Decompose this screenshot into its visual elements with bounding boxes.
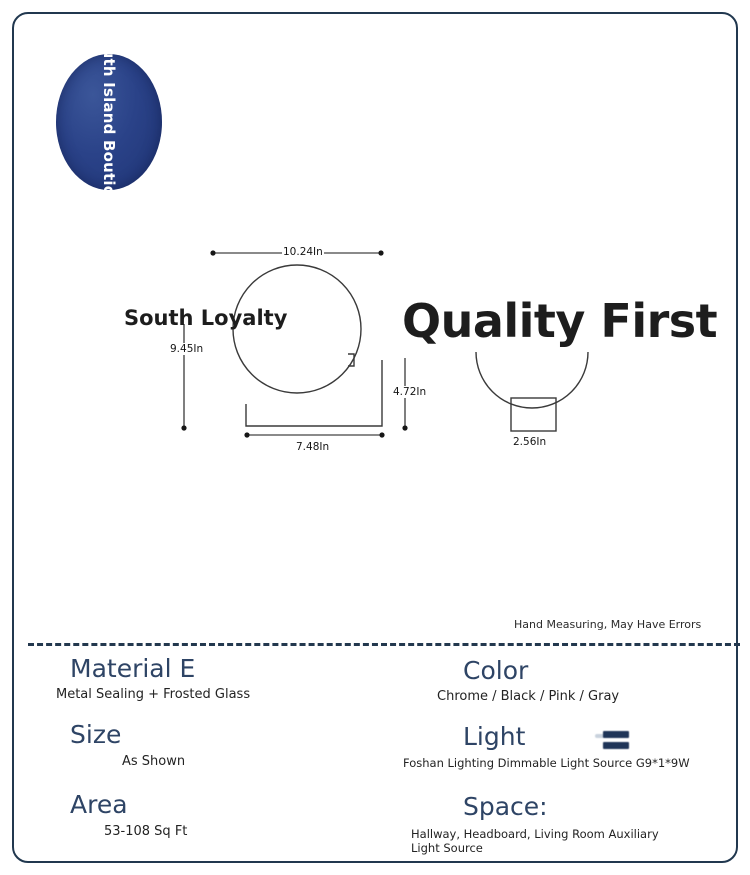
dim-label-left-height: 9.45In — [169, 343, 204, 355]
spec-color-value: Chrome / Black / Pink / Gray — [437, 689, 750, 705]
spec-space-title: Space: — [463, 792, 750, 821]
light-bulb-thumbnail-icon — [595, 728, 629, 754]
shade-notch-right — [348, 354, 354, 366]
detail-square — [511, 398, 556, 431]
dim-label-top-width: 10.24In — [282, 246, 324, 258]
slogan-left: South Loyalty — [124, 306, 287, 330]
dim-dot-right-bottom — [402, 425, 407, 430]
dim-dot-left-bottom — [181, 425, 186, 430]
light-chip-bar-top — [603, 731, 629, 738]
spec-space-value: Hallway, Headboard, Living Room Auxiliar… — [411, 827, 661, 856]
spec-color: Color Chrome / Black / Pink / Gray — [463, 656, 750, 705]
dim-dot-top-right — [378, 250, 383, 255]
logo-label: South Island Boutique — [100, 26, 118, 218]
main-base-rect — [246, 360, 382, 426]
dim-dot-bottom-right — [379, 432, 384, 437]
slogan-right: Quality First — [402, 294, 717, 348]
product-spec-card: South Island Boutique — [0, 0, 750, 875]
spec-light-value: Foshan Lighting Dimmable Light Source G9… — [403, 756, 750, 770]
spec-color-title: Color — [463, 656, 750, 685]
specs-left-column: Material E Metal Sealing + Frosted Glass… — [14, 650, 377, 863]
specs-right-column: Color Chrome / Black / Pink / Gray Light… — [377, 650, 740, 863]
section-divider — [28, 643, 740, 646]
dim-dot-top-left — [210, 250, 215, 255]
dim-dot-bottom-left — [244, 432, 249, 437]
dim-label-detail-width: 2.56In — [512, 436, 547, 448]
detail-arc — [476, 352, 588, 408]
dim-label-bottom-width: 7.48In — [295, 441, 330, 453]
light-chip-bar-bottom — [603, 742, 629, 749]
spec-space: Space: Hallway, Headboard, Living Room A… — [463, 792, 750, 856]
card-frame: South Island Boutique — [12, 12, 738, 863]
specifications: Material E Metal Sealing + Frosted Glass… — [14, 650, 740, 863]
brand-logo: South Island Boutique — [56, 54, 162, 190]
measurement-disclaimer: Hand Measuring, May Have Errors — [514, 618, 701, 631]
dim-label-right-height: 4.72In — [392, 386, 427, 398]
